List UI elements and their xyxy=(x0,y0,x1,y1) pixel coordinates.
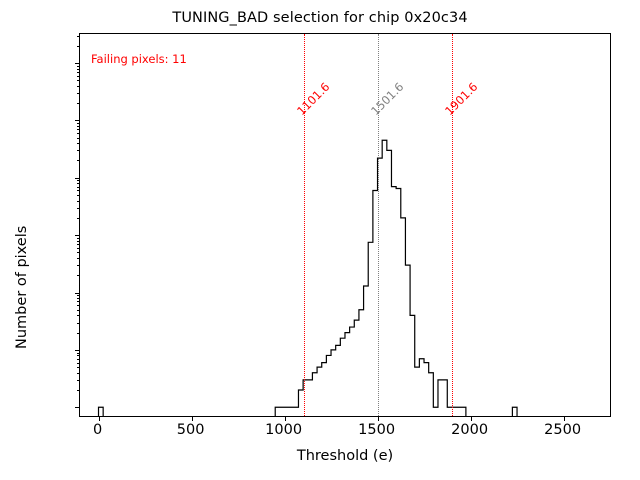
x-tick-major xyxy=(99,416,100,421)
y-tick-minor xyxy=(77,86,80,87)
failing-pixels-annotation: Failing pixels: 11 xyxy=(91,52,187,66)
y-tick-minor xyxy=(77,355,80,356)
y-tick-minor xyxy=(77,333,80,334)
histogram-step-line xyxy=(99,140,518,416)
y-tick-minor xyxy=(77,66,80,67)
chart-figure: TUNING_BAD selection for chip 0x20c34 Nu… xyxy=(0,0,640,480)
y-tick-minor xyxy=(77,138,80,139)
y-tick-minor xyxy=(77,36,80,37)
y-axis-label: Number of pixels xyxy=(14,226,30,349)
y-tick-minor xyxy=(77,69,80,70)
x-tick-label: 2500 xyxy=(523,422,603,438)
x-tick-label: 0 xyxy=(58,422,138,438)
y-tick-minor xyxy=(77,241,80,242)
y-tick-major xyxy=(75,350,80,351)
x-tick-label: 500 xyxy=(151,422,231,438)
x-tick-label: 1500 xyxy=(337,422,417,438)
y-tick-minor xyxy=(77,183,80,184)
y-tick-minor xyxy=(77,133,80,134)
y-tick-minor xyxy=(77,305,80,306)
x-tick-major xyxy=(285,416,286,421)
y-tick-minor xyxy=(77,93,80,94)
y-tick-minor xyxy=(77,315,80,316)
y-tick-minor xyxy=(77,80,80,81)
y-tick-major xyxy=(75,235,80,236)
histogram-series xyxy=(80,34,610,416)
vline-high-threshold xyxy=(452,34,453,416)
y-tick-minor xyxy=(77,244,80,245)
y-tick-minor xyxy=(77,46,80,47)
y-tick-minor xyxy=(77,218,80,219)
plot-area xyxy=(79,33,611,417)
x-tick-major xyxy=(192,416,193,421)
x-tick-label: 1000 xyxy=(244,422,324,438)
y-tick-minor xyxy=(77,248,80,249)
y-tick-minor xyxy=(77,265,80,266)
y-tick-minor xyxy=(77,258,80,259)
y-tick-minor xyxy=(77,150,80,151)
y-tick-minor xyxy=(77,363,80,364)
y-tick-minor xyxy=(77,123,80,124)
y-tick-minor xyxy=(77,298,80,299)
x-axis-label: Threshold (e) xyxy=(79,448,611,464)
y-tick-minor xyxy=(77,301,80,302)
y-tick-major xyxy=(75,407,80,408)
y-tick-minor xyxy=(77,367,80,368)
vline-target-threshold xyxy=(378,34,379,416)
y-tick-minor xyxy=(77,201,80,202)
y-tick-minor xyxy=(77,180,80,181)
y-tick-minor xyxy=(77,359,80,360)
y-tick-major xyxy=(75,293,80,294)
y-tick-minor xyxy=(77,126,80,127)
y-tick-minor xyxy=(77,195,80,196)
x-tick-label: 2000 xyxy=(430,422,510,438)
y-tick-minor xyxy=(77,295,80,296)
y-tick-minor xyxy=(77,187,80,188)
y-tick-minor xyxy=(77,252,80,253)
y-tick-minor xyxy=(77,238,80,239)
y-tick-minor xyxy=(77,190,80,191)
y-tick-minor xyxy=(77,72,80,73)
vline-low-threshold xyxy=(304,34,305,416)
y-tick-minor xyxy=(77,323,80,324)
y-tick-minor xyxy=(77,390,80,391)
y-tick-major xyxy=(75,178,80,179)
x-tick-major xyxy=(564,416,565,421)
y-tick-major xyxy=(75,63,80,64)
y-tick-minor xyxy=(77,160,80,161)
y-tick-major xyxy=(75,120,80,121)
chart-title: TUNING_BAD selection for chip 0x20c34 xyxy=(0,10,640,26)
x-tick-major xyxy=(378,416,379,421)
y-tick-minor xyxy=(77,208,80,209)
y-tick-minor xyxy=(77,380,80,381)
y-tick-minor xyxy=(77,76,80,77)
y-tick-minor xyxy=(77,129,80,130)
y-tick-minor xyxy=(77,275,80,276)
y-tick-minor xyxy=(77,373,80,374)
y-tick-minor xyxy=(77,310,80,311)
y-tick-minor xyxy=(77,103,80,104)
plot-clip xyxy=(80,34,610,416)
y-tick-minor xyxy=(77,143,80,144)
x-tick-major xyxy=(471,416,472,421)
y-tick-minor xyxy=(77,353,80,354)
